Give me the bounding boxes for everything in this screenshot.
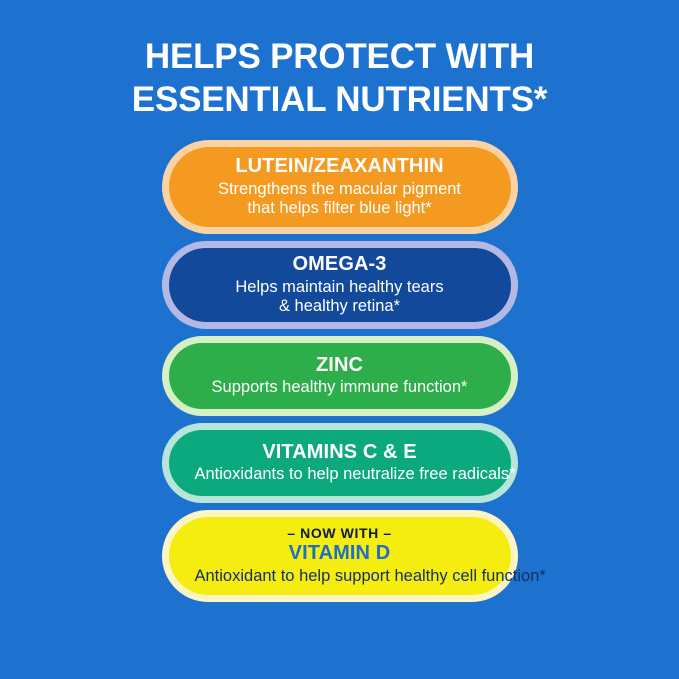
infographic-poster: HELPS PROTECT WITH ESSENTIAL NUTRIENTS* … (0, 0, 679, 679)
pill-description-vitamin-d: Antioxidant to help support healthy cell… (195, 567, 485, 586)
pill-desc-line-1: Antioxidants to help neutralize free rad… (195, 465, 485, 484)
pill-desc-line-2: & healthy retina* (195, 297, 485, 316)
pill-eyebrow-vitamin-d: – NOW WITH – (195, 525, 485, 542)
pill-description-zinc: Supports healthy immune function* (195, 378, 485, 397)
nutrient-pill-list: LUTEIN/ZEAXANTHIN Strengthens the macula… (155, 140, 525, 602)
pill-desc-line-2: that helps filter blue light* (195, 199, 485, 218)
pill-desc-line-1: Strengthens the macular pigment (195, 180, 485, 199)
pill-description-omega-3: Helps maintain healthy tears & healthy r… (195, 278, 485, 316)
pill-description-vitamins-c-and-e: Antioxidants to help neutralize free rad… (195, 465, 485, 484)
nutrient-pill-vitamin-d: – NOW WITH – VITAMIN D Antioxidant to he… (162, 510, 518, 602)
pill-title-vitamin-d: VITAMIN D (195, 542, 485, 566)
headline-line-2: ESSENTIAL NUTRIENTS* (60, 79, 620, 122)
headline-line-1: HELPS PROTECT WITH (60, 36, 620, 79)
nutrient-pill-omega-3: OMEGA-3 Helps maintain healthy tears & h… (162, 241, 518, 329)
pill-desc-line-1: Antioxidant to help support healthy cell… (195, 567, 485, 586)
pill-title-omega-3: OMEGA-3 (195, 253, 485, 277)
pill-desc-line-1: Supports healthy immune function* (195, 378, 485, 397)
nutrient-pill-zinc: ZINC Supports healthy immune function* (162, 336, 518, 416)
pill-title-lutein-zeaxanthin: LUTEIN/ZEAXANTHIN (195, 155, 485, 179)
nutrient-pill-lutein-zeaxanthin: LUTEIN/ZEAXANTHIN Strengthens the macula… (162, 140, 518, 234)
pill-description-lutein-zeaxanthin: Strengthens the macular pigment that hel… (195, 180, 485, 218)
pill-desc-line-1: Helps maintain healthy tears (195, 278, 485, 297)
pill-title-zinc: ZINC (195, 354, 485, 378)
page-title: HELPS PROTECT WITH ESSENTIAL NUTRIENTS* (60, 36, 620, 121)
pill-title-vitamins-c-and-e: VITAMINS C & E (195, 441, 485, 465)
nutrient-pill-vitamins-c-and-e: VITAMINS C & E Antioxidants to help neut… (162, 423, 518, 503)
